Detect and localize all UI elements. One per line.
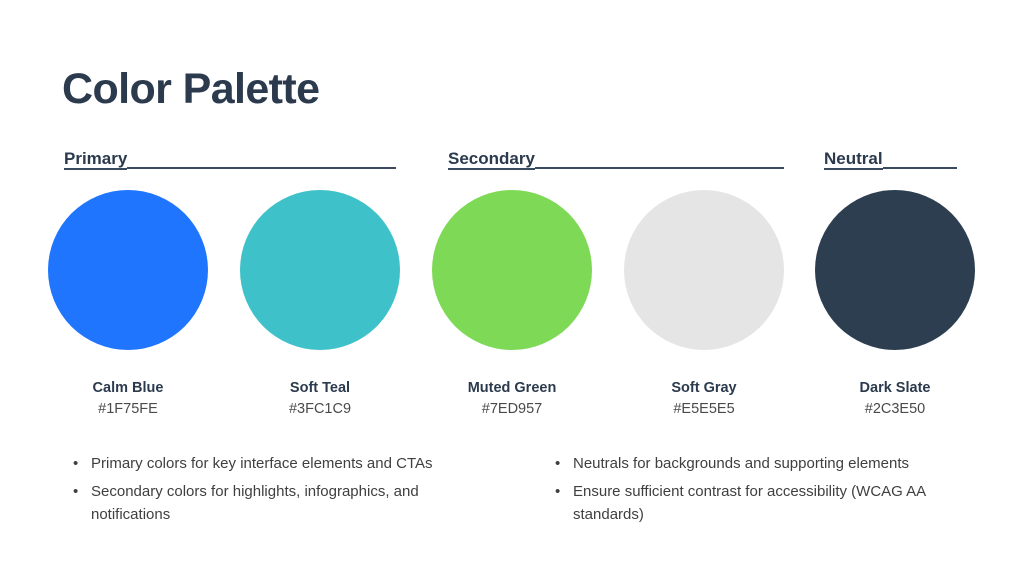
color-disc-soft-teal (240, 190, 400, 350)
color-name: Soft Teal (239, 379, 401, 397)
section-rule-neutral (883, 167, 957, 169)
color-disc-calm-blue (48, 190, 208, 350)
section-header-secondary: Secondary (448, 148, 784, 170)
notes-list-right: Neutrals for backgrounds and supporting … (546, 452, 976, 527)
notes-column-right: Neutrals for backgrounds and supporting … (546, 452, 976, 531)
page-title: Color Palette (62, 68, 319, 111)
section-rule-secondary (535, 167, 784, 169)
section-rule-primary (127, 167, 396, 169)
note-item: Secondary colors for highlights, infogra… (64, 480, 494, 527)
color-hex: #3FC1C9 (239, 400, 401, 418)
note-item: Neutrals for backgrounds and supporting … (546, 452, 976, 476)
color-disc-dark-slate (815, 190, 975, 350)
color-disc-soft-gray (624, 190, 784, 350)
section-header-neutral: Neutral (824, 148, 957, 170)
color-name: Calm Blue (47, 379, 209, 397)
section-label-neutral: Neutral (824, 150, 883, 170)
section-label-secondary: Secondary (448, 150, 535, 170)
color-hex: #1F75FE (47, 400, 209, 418)
color-swatch: Muted Green #7ED957 (431, 190, 593, 418)
color-hex: #7ED957 (431, 400, 593, 418)
color-swatch: Soft Gray #E5E5E5 (623, 190, 785, 418)
color-disc-muted-green (432, 190, 592, 350)
notes-column-left: Primary colors for key interface element… (64, 452, 494, 531)
color-hex: #2C3E50 (814, 400, 976, 418)
note-item: Ensure sufficient contrast for accessibi… (546, 480, 976, 527)
notes-list-left: Primary colors for key interface element… (64, 452, 494, 527)
color-swatch: Dark Slate #2C3E50 (814, 190, 976, 418)
color-name: Soft Gray (623, 379, 785, 397)
color-hex: #E5E5E5 (623, 400, 785, 418)
note-item: Primary colors for key interface element… (64, 452, 494, 476)
color-palette-slide: Color Palette Primary Secondary Neutral … (0, 0, 1024, 576)
section-header-primary: Primary (64, 148, 396, 170)
color-name: Dark Slate (814, 379, 976, 397)
color-name: Muted Green (431, 379, 593, 397)
color-swatch: Calm Blue #1F75FE (47, 190, 209, 418)
color-swatch: Soft Teal #3FC1C9 (239, 190, 401, 418)
section-label-primary: Primary (64, 150, 127, 170)
